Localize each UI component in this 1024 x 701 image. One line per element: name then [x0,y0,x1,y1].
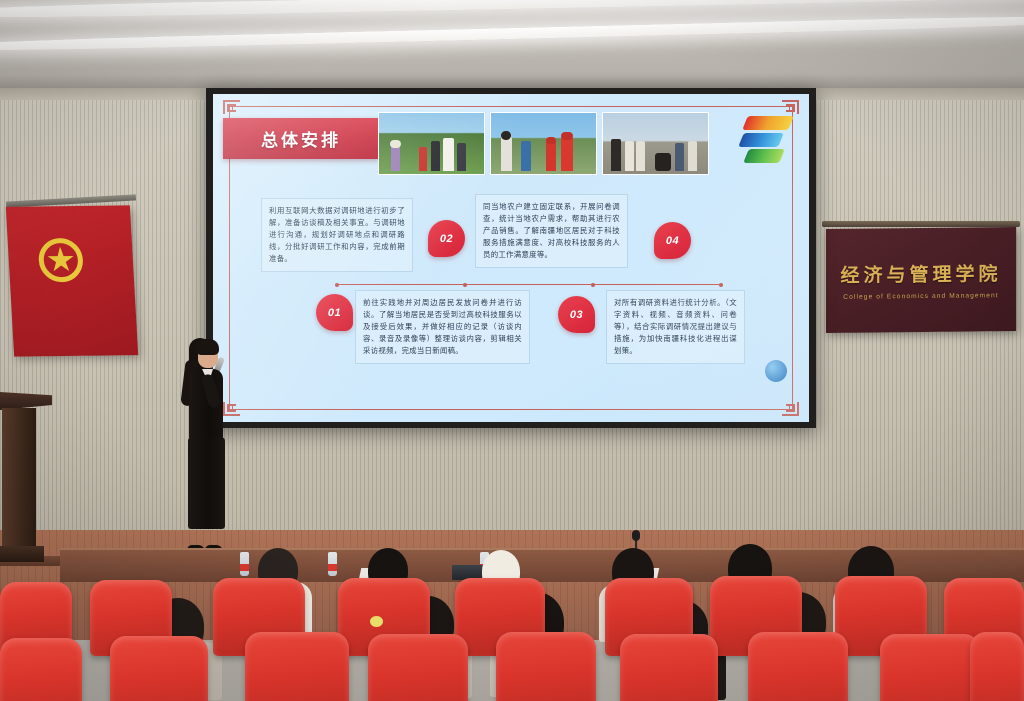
banner-rod-right [822,221,1020,227]
step-text-box-03: 同当地农户建立固定联系，开展问卷调查，统计当地农户需求，帮助其进行农产品销售。了… [475,194,628,268]
slide-photo-strip [378,112,709,175]
auditorium-seat [0,638,82,701]
badge-number: 04 [666,235,679,247]
decorative-orb [765,360,787,382]
flag-emblem-circle [38,238,84,282]
auditorium-seat [496,632,596,701]
presenter-skirt [188,437,225,529]
step-badge-04: 04 [654,222,691,259]
star-icon [47,247,76,274]
step-badge-02: 02 [428,220,465,257]
ceiling-light-strip [0,0,1024,21]
projection-screen-frame: 总体安排 [206,88,816,428]
badge-number: 02 [440,233,453,245]
field-survey-photo-2 [490,112,597,175]
auditorium-seat [748,632,848,701]
auditorium-scene: 经济与管理学院 College of Economics and Managem… [0,0,1024,701]
corner-ornament-icon [782,402,799,416]
step-badge-01: 01 [316,294,353,331]
field-survey-photo-3 [602,112,709,175]
hair-scrunchie [370,616,383,627]
communist-youth-league-flag [6,205,138,356]
auditorium-seat [110,636,208,701]
banner-english-title: College of Economics and Management [843,292,998,301]
presenter-hair-front [195,339,219,355]
slide-title: 总体安排 [261,126,341,151]
audience-area [0,520,1024,701]
auditorium-seat [245,632,349,701]
badge-number: 03 [570,309,583,321]
college-banner: 经济与管理学院 College of Economics and Managem… [826,227,1016,333]
banner-chinese-title: 经济与管理学院 [840,259,1001,288]
ceiling-light-strip [0,13,1024,54]
auditorium-seat [368,634,468,701]
step-badge-03: 03 [558,296,595,333]
auditorium-seat [880,634,980,701]
auditorium-seat [620,634,718,701]
corner-ornament-icon [782,100,799,114]
auditorium-seat [970,632,1024,701]
ribbon-logo-icon [739,114,795,166]
slide-title-ribbon: 总体安排 [223,118,379,159]
timeline-connector [335,284,721,285]
field-survey-photo-1 [378,112,485,175]
corner-ornament-icon [223,100,240,114]
step-text-box-04: 对所有调研资料进行统计分析。（文字资料、视频、音频资料、问卷等），结合实际调研情… [606,290,745,364]
badge-number: 01 [328,307,341,319]
step-text-box-02: 利用互联网大数据对调研地进行初步了解，准备访谈稿及相关事宜。与调研地进行沟通，规… [261,198,413,272]
presentation-slide: 总体安排 [213,94,809,422]
step-text-box-01: 前往实践地并对周边居民发放问卷并进行访谈。了解当地居民是否受到过高校科技服务以及… [355,290,530,364]
ceiling [0,0,1024,96]
